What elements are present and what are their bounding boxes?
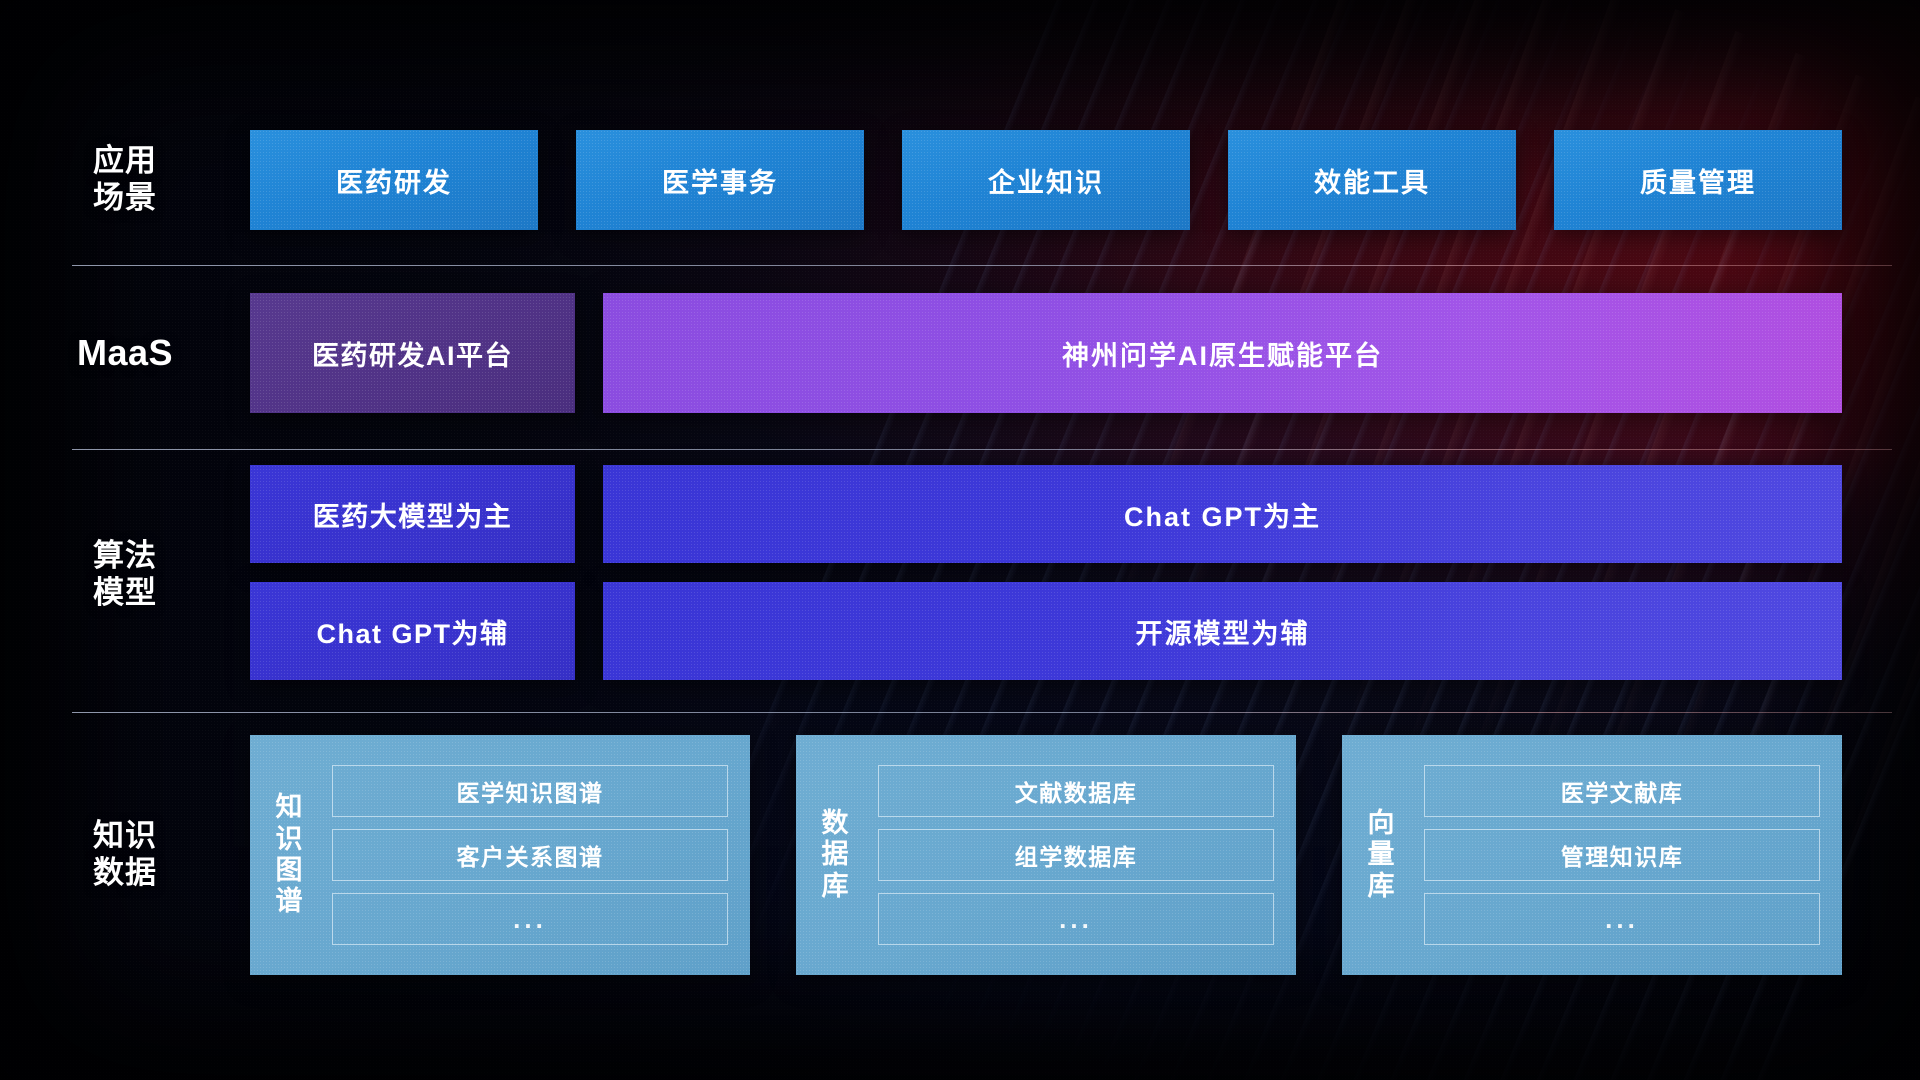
algorithm-card-label: 医药大模型为主 [313, 495, 513, 534]
knowledge-item[interactable]: 组学数据库 [878, 829, 1274, 881]
application-card-label: 质量管理 [1640, 161, 1756, 200]
application-card-label: 医药研发 [336, 161, 452, 200]
application-card-0[interactable]: 医药研发 [250, 130, 538, 230]
algorithm-card-label: Chat GPT为主 [1124, 495, 1321, 534]
application-card-label: 企业知识 [988, 161, 1104, 200]
layer-maas: MaaS 医药研发AI平台 神州问学AI原生赋能平台 [0, 293, 1920, 413]
layer-label-knowledge: 知识 数据 [0, 735, 250, 975]
maas-card-label: 神州问学AI原生赋能平台 [1062, 334, 1383, 373]
algorithm-card-label: Chat GPT为辅 [316, 612, 508, 651]
divider-application-maas [72, 265, 1892, 266]
knowledge-group-vector-store[interactable]: 向 量 库 医学文献库 管理知识库 ... [1342, 735, 1842, 975]
knowledge-group-title-char: 数 [822, 808, 849, 839]
algorithm-card-row0-left[interactable]: 医药大模型为主 [250, 465, 575, 563]
application-card-4[interactable]: 质量管理 [1554, 130, 1842, 230]
layer-label-application: 应用 场景 [0, 130, 250, 230]
knowledge-item[interactable]: 文献数据库 [878, 765, 1274, 817]
divider-algorithm-knowledge [72, 712, 1892, 713]
knowledge-group-items: 医学知识图谱 客户关系图谱 ... [328, 735, 750, 975]
knowledge-group-items: 文献数据库 组学数据库 ... [874, 735, 1296, 975]
knowledge-item-label: 文献数据库 [1015, 774, 1138, 808]
knowledge-group-knowledge-graph[interactable]: 知 识 图 谱 医学知识图谱 客户关系图谱 ... [250, 735, 750, 975]
knowledge-group-title: 数 据 库 [796, 735, 874, 975]
knowledge-item-more[interactable]: ... [1424, 893, 1820, 945]
layer-algorithm: 算法 模型 医药大模型为主 Chat GPT为主 Chat GPT为辅 开源模型… [0, 465, 1920, 685]
application-card-label: 效能工具 [1314, 161, 1430, 200]
knowledge-item-label: ... [1059, 904, 1093, 935]
algorithm-card-row1-left[interactable]: Chat GPT为辅 [250, 582, 575, 680]
layer-label-line: 数据 [93, 855, 157, 892]
divider-maas-algorithm [72, 449, 1892, 450]
layer-label-line: 知识 [93, 818, 157, 855]
knowledge-group-title-char: 向 [1368, 808, 1395, 839]
knowledge-group-title-char: 库 [1368, 871, 1395, 902]
application-card-3[interactable]: 效能工具 [1228, 130, 1516, 230]
knowledge-group-title: 向 量 库 [1342, 735, 1420, 975]
knowledge-group-database[interactable]: 数 据 库 文献数据库 组学数据库 ... [796, 735, 1296, 975]
algorithm-card-label: 开源模型为辅 [1136, 612, 1310, 651]
knowledge-item-label: ... [513, 904, 547, 935]
layer-label-line: 算法 [93, 538, 157, 575]
application-card-2[interactable]: 企业知识 [902, 130, 1190, 230]
maas-card-label: 医药研发AI平台 [312, 334, 513, 373]
knowledge-item-label: 管理知识库 [1561, 838, 1684, 872]
layer-label-algorithm: 算法 模型 [0, 465, 250, 685]
knowledge-group-title-char: 谱 [276, 886, 303, 917]
knowledge-item[interactable]: 医学知识图谱 [332, 765, 728, 817]
knowledge-group-title-char: 库 [822, 871, 849, 902]
knowledge-item-label: ... [1605, 904, 1639, 935]
architecture-diagram: 应用 场景 医药研发 医学事务 企业知识 效能工具 质量管理 MaaS 医药研发… [0, 0, 1920, 1080]
layer-label-line: 应用 [93, 143, 157, 180]
layer-label-line: 模型 [93, 575, 157, 612]
layer-knowledge: 知识 数据 知 识 图 谱 医学知识图谱 客户关系图谱 ... [0, 735, 1920, 975]
knowledge-group-title: 知 识 图 谱 [250, 735, 328, 975]
maas-platform-card-medical[interactable]: 医药研发AI平台 [250, 293, 575, 413]
layer-label-line: MaaS [77, 332, 173, 374]
knowledge-item[interactable]: 医学文献库 [1424, 765, 1820, 817]
knowledge-item[interactable]: 管理知识库 [1424, 829, 1820, 881]
algorithm-card-row0-right[interactable]: Chat GPT为主 [603, 465, 1842, 563]
knowledge-group-title-char: 量 [1368, 839, 1395, 870]
knowledge-group-title-char: 识 [276, 824, 303, 855]
knowledge-item-label: 组学数据库 [1015, 838, 1138, 872]
maas-platform-card-shenzhou[interactable]: 神州问学AI原生赋能平台 [603, 293, 1842, 413]
algorithm-card-row1-right[interactable]: 开源模型为辅 [603, 582, 1842, 680]
knowledge-item-more[interactable]: ... [332, 893, 728, 945]
knowledge-item-label: 客户关系图谱 [457, 838, 604, 872]
knowledge-item-label: 医学知识图谱 [457, 774, 604, 808]
layer-label-maas: MaaS [0, 293, 250, 413]
application-card-label: 医学事务 [662, 161, 778, 200]
knowledge-item-label: 医学文献库 [1561, 774, 1684, 808]
knowledge-group-title-char: 图 [276, 855, 303, 886]
knowledge-group-title-char: 知 [276, 792, 303, 823]
layer-application: 应用 场景 医药研发 医学事务 企业知识 效能工具 质量管理 [0, 130, 1920, 230]
knowledge-item-more[interactable]: ... [878, 893, 1274, 945]
knowledge-group-title-char: 据 [822, 839, 849, 870]
application-card-1[interactable]: 医学事务 [576, 130, 864, 230]
knowledge-group-items: 医学文献库 管理知识库 ... [1420, 735, 1842, 975]
layer-label-line: 场景 [93, 180, 157, 217]
knowledge-item[interactable]: 客户关系图谱 [332, 829, 728, 881]
